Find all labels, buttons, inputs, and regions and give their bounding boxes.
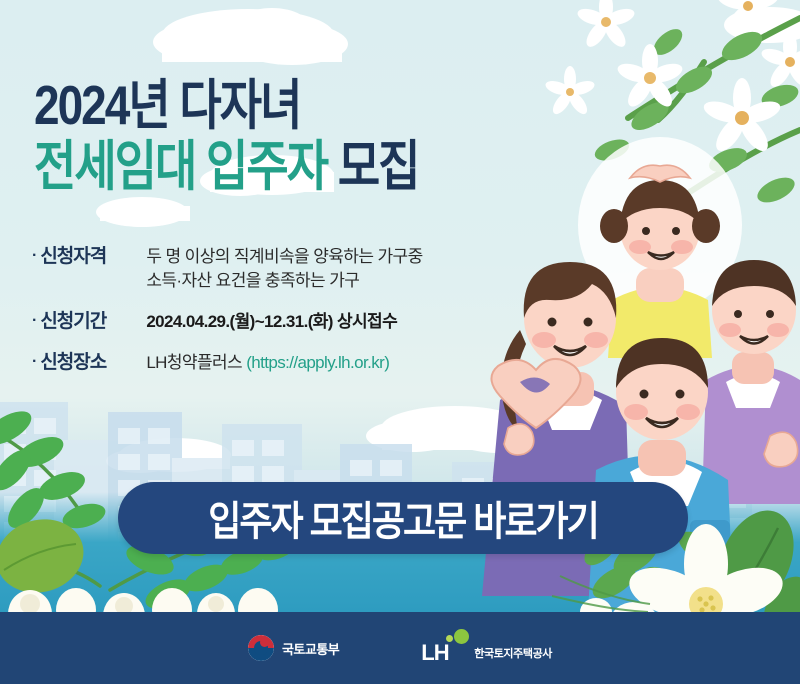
headline-line-2-navy: 모집	[338, 135, 419, 196]
location-name: LH청약플러스	[146, 353, 242, 372]
info-value-location: LH청약플러스 (https://apply.lh.or.kr)	[146, 351, 389, 375]
bullet-icon: ·	[32, 245, 37, 267]
child-boy-right	[702, 260, 800, 504]
info-value-period: 2024.04.29.(월)~12.31.(화) 상시접수	[146, 310, 397, 334]
application-url-link[interactable]: (https://apply.lh.or.kr)	[246, 353, 389, 372]
corporation-name: 한국토지주택공사	[474, 645, 552, 663]
footer-bar: 국토교통부 LH 한국토지주택공사	[0, 612, 800, 684]
info-row-qualification: · 신청자격 두 명 이상의 직계비속을 양육하는 가구중 소득·자산 요건을 …	[32, 245, 502, 293]
info-label-qualification: 신청자격	[40, 245, 136, 268]
headline: 2024년 다자녀 전세임대 입주자 모집	[34, 78, 418, 186]
info-row-period: · 신청기간 2024.04.29.(월)~12.31.(화) 상시접수	[32, 310, 502, 334]
ministry-logo: 국토교통부	[248, 635, 339, 661]
notice-link-button[interactable]: 입주자 모집공고문 바로가기	[118, 482, 688, 554]
info-value-qualification: 두 명 이상의 직계비속을 양육하는 가구중 소득·자산 요건을 충족하는 가구	[146, 245, 422, 293]
bullet-icon: ·	[32, 351, 37, 373]
qualification-line-2: 소득·자산 요건을 충족하는 가구	[146, 271, 359, 290]
ministry-name: 국토교통부	[282, 639, 339, 658]
child-girl	[600, 165, 720, 358]
lh-initials: LH	[421, 643, 448, 663]
headline-line-2-teal: 전세임대 입주자	[34, 135, 327, 196]
info-label-period: 신청기간	[40, 310, 136, 333]
bullet-icon: ·	[32, 310, 37, 332]
info-row-location: · 신청장소 LH청약플러스 (https://apply.lh.or.kr)	[32, 351, 502, 375]
headline-line-2: 전세임대 입주자 모집	[34, 139, 418, 194]
info-label-location: 신청장소	[40, 351, 136, 374]
lh-dots-icon: LH	[421, 633, 467, 663]
promo-banner: 2024년 다자녀 전세임대 입주자 모집 · 신청자격 두 명 이상의 직계비…	[0, 0, 800, 684]
notice-link-button-label: 입주자 모집공고문 바로가기	[208, 489, 597, 547]
taegeuk-icon	[248, 635, 274, 661]
qualification-line-1: 두 명 이상의 직계비속을 양육하는 가구중	[146, 247, 422, 266]
lh-logo: LH 한국토지주택공사	[421, 633, 552, 663]
info-list: · 신청자격 두 명 이상의 직계비속을 양육하는 가구중 소득·자산 요건을 …	[32, 245, 502, 392]
headline-line-1: 2024년 다자녀	[34, 78, 418, 133]
